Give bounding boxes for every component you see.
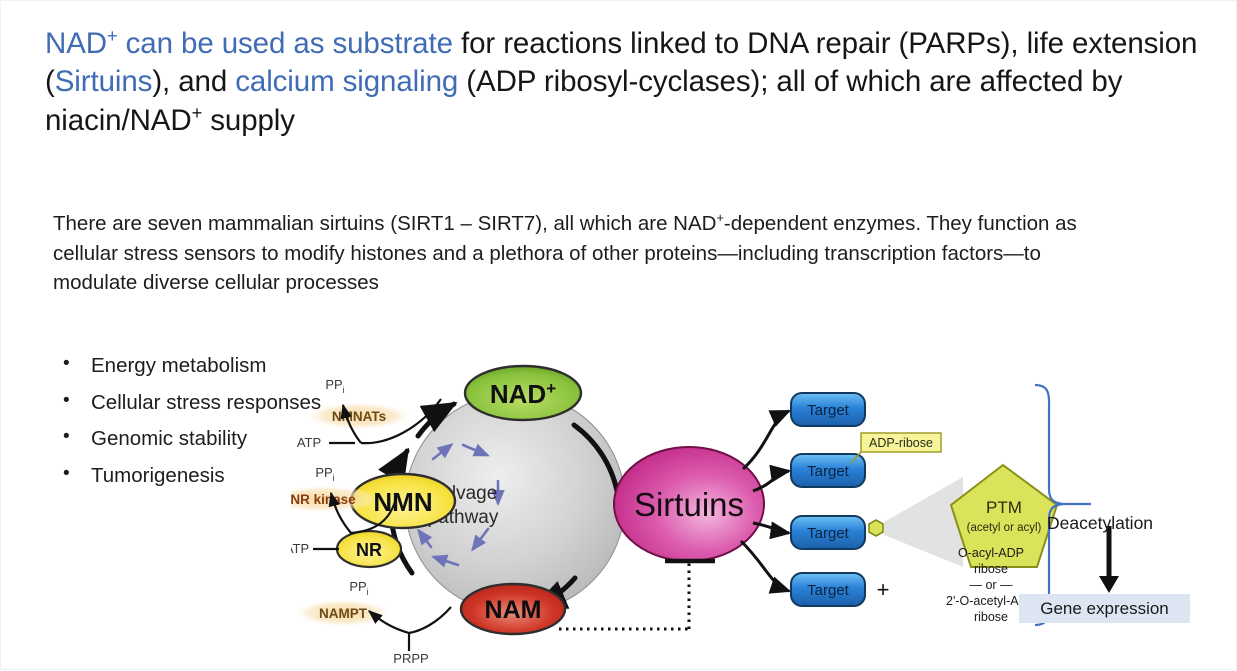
substrate-prpp: PRPP bbox=[393, 651, 428, 666]
bullet-label: Cellular stress responses bbox=[91, 391, 321, 414]
target-box-3-label: Target bbox=[807, 525, 850, 542]
product-line-1: O-acyl-ADP bbox=[958, 546, 1024, 560]
node-nad-sup: + bbox=[546, 379, 556, 398]
target-boxes: Target Target Target Target bbox=[791, 393, 865, 606]
product-line-5: ribose bbox=[974, 610, 1008, 624]
page-title: NAD+ can be used as substrate for reacti… bbox=[45, 25, 1205, 140]
ptm-sublabel: (acetyl or acyl) bbox=[967, 522, 1042, 534]
title-nad-superscript-2: + bbox=[192, 102, 203, 123]
title-accent-nad: NAD+ can be used as substrate bbox=[45, 27, 453, 60]
bullet-label: Tumorigenesis bbox=[91, 464, 225, 487]
deacetylation-arrow bbox=[1099, 526, 1119, 593]
product-line-3: — or — bbox=[969, 578, 1013, 592]
enzyme-label-nmnats: NMNATs bbox=[332, 409, 386, 424]
target-box-4-label: Target bbox=[807, 582, 850, 599]
target-box-2-label: Target bbox=[807, 463, 850, 480]
byproduct-ppi-nampt: PPi bbox=[349, 579, 368, 597]
gene-expression-label: Gene expression bbox=[1040, 599, 1169, 619]
substrate-atp-nr: ATP bbox=[291, 541, 309, 556]
bullet-label: Energy metabolism bbox=[91, 354, 266, 377]
enzyme-label-nampt: NAMPT bbox=[319, 606, 368, 621]
title-accent-sirtuins: Sirtuins bbox=[55, 65, 153, 98]
byproduct-ppi-nmnat: PPi bbox=[325, 377, 344, 395]
node-sirtuins-label: Sirtuins bbox=[634, 486, 744, 523]
slide-canvas: NAD+ can be used as substrate for reacti… bbox=[0, 0, 1237, 670]
node-nr-label: NR bbox=[356, 540, 382, 560]
node-nmn-label: NMN bbox=[373, 487, 432, 517]
ptm-label: PTM bbox=[986, 498, 1022, 517]
ptm-marker-hexagon bbox=[869, 520, 883, 536]
title-normal-2: ), and bbox=[152, 65, 235, 98]
byproduct-ppi-nrkinase: PPi bbox=[315, 465, 334, 483]
list-item: Cellular stress responses bbox=[57, 393, 321, 414]
title-nad-superscript: + bbox=[107, 25, 118, 46]
bullet-label: Genomic stability bbox=[91, 427, 247, 450]
node-nam-label: NAM bbox=[485, 596, 542, 624]
gene-expression-box: Gene expression bbox=[1019, 594, 1190, 623]
product-line-2: ribose bbox=[974, 562, 1008, 576]
paragraph-part-1: There are seven mammalian sirtuins (SIRT… bbox=[53, 212, 716, 235]
list-item: Energy metabolism bbox=[57, 356, 321, 377]
plus-sign: + bbox=[877, 577, 890, 602]
ptm-zoom-cone bbox=[884, 477, 963, 567]
node-nad-base: NAD bbox=[490, 379, 546, 409]
body-paragraph: There are seven mammalian sirtuins (SIRT… bbox=[53, 209, 1093, 298]
target-box-1-label: Target bbox=[807, 402, 850, 419]
deacetylation-label: Deacetylation bbox=[1047, 513, 1153, 534]
paragraph-superscript: + bbox=[716, 210, 723, 225]
title-accent-calcium: calcium signaling bbox=[235, 65, 458, 98]
substrate-atp-nmnat: ATP bbox=[297, 435, 321, 450]
bullet-list: Energy metabolism Cellular stress respon… bbox=[57, 356, 321, 502]
adp-ribose-label: ADP-ribose bbox=[869, 436, 933, 450]
list-item: Tumorigenesis bbox=[57, 466, 321, 487]
list-item: Genomic stability bbox=[57, 429, 321, 450]
enzyme-label-nr-kinase: NR kinase bbox=[291, 492, 356, 507]
